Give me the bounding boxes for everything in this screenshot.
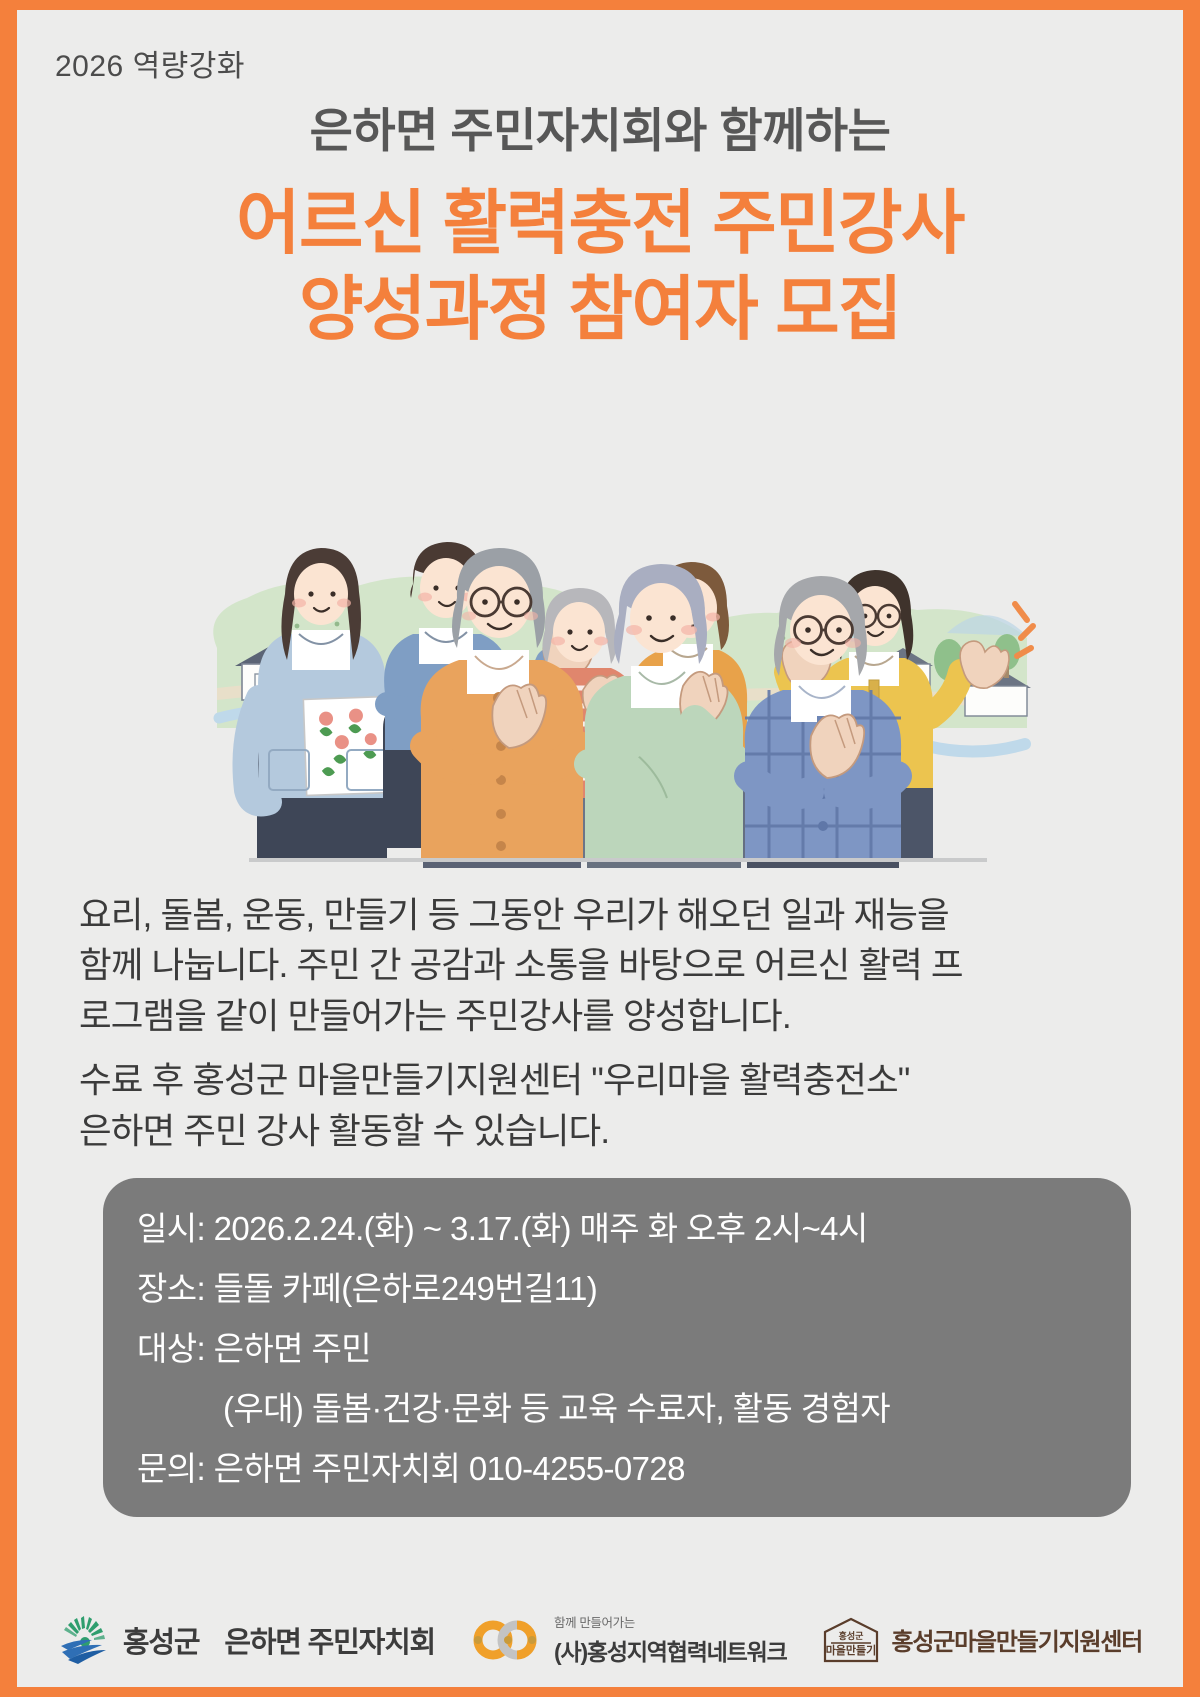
- hongseong-gun-emblem-icon: [58, 1614, 112, 1666]
- house-mark-line-1: 홍성군: [838, 1630, 864, 1641]
- poster-bottom-border: [17, 1687, 1183, 1697]
- detail-row-target: 대상: 은하면 주민: [103, 1332, 1131, 1365]
- poster-canvas: 2026 역량강화 은하면 주민자치회와 함께하는 어르신 활력충전 주민강사 …: [0, 0, 1200, 1697]
- eyebrow-label: 2026 역량강화: [55, 41, 245, 85]
- headline-block: 은하면 주민자치회와 함께하는 어르신 활력충전 주민강사 양성과정 참여자 모…: [17, 105, 1183, 352]
- detail-row-location: 장소: 들돌 카페(은하로249번길11): [103, 1272, 1131, 1305]
- body-line-4: 수료 후 홍성군 마을만들기지원센터 "우리마을 활력충전소": [79, 1060, 909, 1100]
- logo-village-center: 홍성군 마을만들기 홍성군마을만들기지원센터: [821, 1616, 1143, 1664]
- body-description: 요리, 돌봄, 운동, 만들기 등 그동안 우리가 해오던 일과 재능을 함께 …: [79, 890, 1155, 1156]
- body-paragraph-2: 수료 후 홍성군 마을만들기지원센터 "우리마을 활력충전소" 은하면 주민 강…: [79, 1055, 1155, 1156]
- poster-top-border: [17, 0, 1183, 10]
- logo-hongseong-gun: 홍성군 은하면 주민자치회: [58, 1614, 435, 1666]
- body-line-2: 함께 나눕니다. 주민 간 공감과 소통을 바탕으로 어르신 활력 프: [79, 945, 963, 985]
- body-line-3: 로그램을 같이 만들어가는 주민강사를 양성합니다.: [79, 996, 791, 1036]
- logo-hongseong-network: 함께 만들어가는 (사)홍성지역협력네트워크: [469, 1612, 786, 1667]
- detail-row-contact: 문의: 은하면 주민자치회 010-4255-0728: [103, 1452, 1131, 1485]
- house-mark-icon: 홍성군 마을만들기: [821, 1616, 881, 1664]
- body-paragraph-1: 요리, 돌봄, 운동, 만들기 등 그동안 우리가 해오던 일과 재능을 함께 …: [79, 890, 1155, 1041]
- village-people-illustration: [187, 398, 1047, 868]
- event-details-box: 일시: 2026.2.24.(화) ~ 3.17.(화) 매주 화 오후 2시~…: [103, 1178, 1131, 1517]
- body-line-5: 은하면 주민 강사 활동할 수 있습니다.: [79, 1111, 609, 1151]
- sub-headline: 은하면 주민자치회와 함께하는: [17, 105, 1183, 158]
- logo-village-center-label: 홍성군마을만들기지원센터: [892, 1622, 1143, 1657]
- logo-partner-eunha-label: 은하면 주민자치회: [224, 1619, 435, 1661]
- logo-network-tagline: 함께 만들어가는: [554, 1612, 786, 1631]
- main-headline-line-2: 양성과정 참여자 모집: [17, 266, 1183, 352]
- main-headline-line-1: 어르신 활력충전 주민강사: [236, 184, 964, 262]
- interlocking-rings-icon: [469, 1619, 543, 1661]
- detail-row-date: 일시: 2026.2.24.(화) ~ 3.17.(화) 매주 화 오후 2시~…: [103, 1212, 1131, 1245]
- logo-network-label: (사)홍성지역협력네트워크: [554, 1633, 786, 1667]
- house-mark-line-2: 마을만들기: [825, 1643, 876, 1657]
- main-headline: 어르신 활력충전 주민강사 양성과정 참여자 모집: [17, 180, 1183, 352]
- logo-hongseong-gun-label: 홍성군: [123, 1619, 199, 1661]
- body-line-1: 요리, 돌봄, 운동, 만들기 등 그동안 우리가 해오던 일과 재능을: [79, 895, 949, 935]
- footer-logos: 홍성군 은하면 주민자치회 함께 만들어가는 (사)홍성지역협력네트워크 홍성군: [17, 1612, 1183, 1667]
- detail-row-preference: (우대) 돌봄·건강·문화 등 교육 수료자, 활동 경험자: [103, 1392, 1131, 1425]
